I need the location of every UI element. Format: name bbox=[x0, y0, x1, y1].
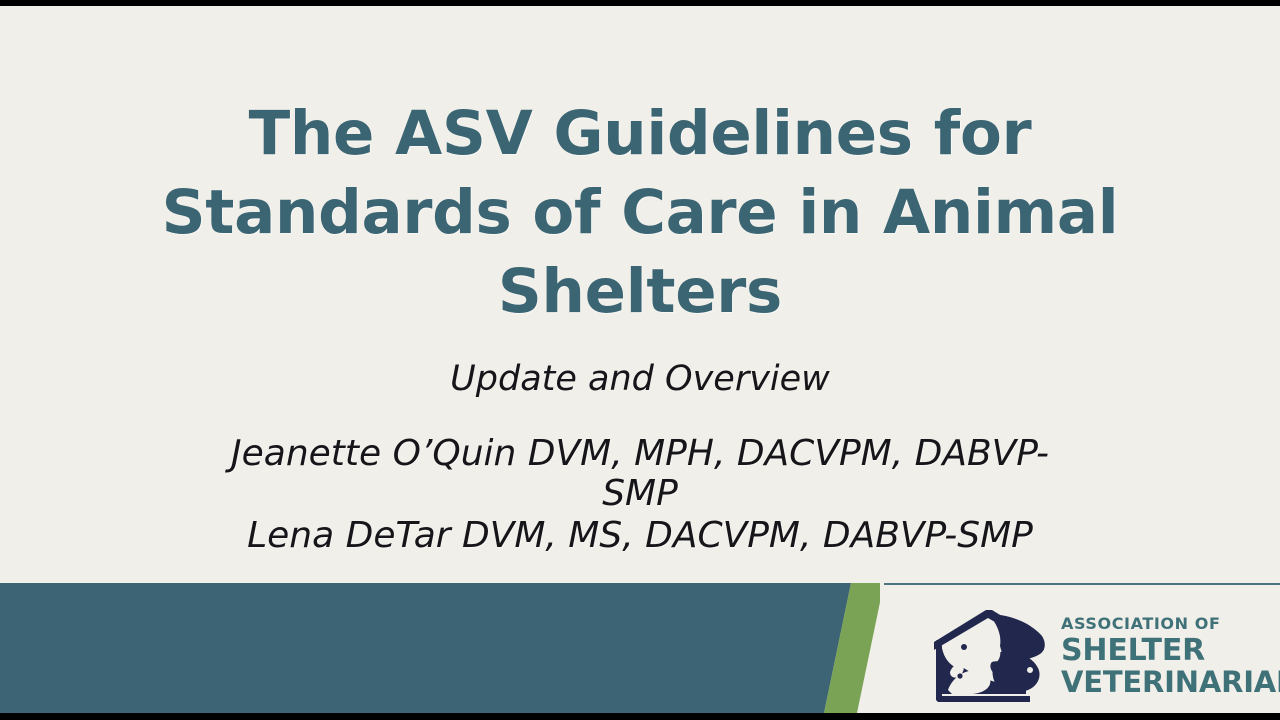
asv-logo: ASSOCIATION OF SHELTER VETERINARIANS bbox=[930, 604, 1270, 708]
author-1-credential-wrap: SMP bbox=[602, 473, 678, 514]
letterbox-bar-top bbox=[0, 0, 1280, 6]
letterbox-bar-bottom bbox=[0, 713, 1280, 720]
footer-teal-band bbox=[0, 583, 880, 713]
footer-divider-line bbox=[884, 583, 1280, 585]
asv-wordmark: ASSOCIATION OF SHELTER VETERINARIANS bbox=[1061, 616, 1280, 697]
title-line-3: Shelters bbox=[498, 256, 782, 327]
asv-line-shelter: SHELTER bbox=[1061, 636, 1280, 666]
house-with-dog-cat-rabbit-icon bbox=[930, 606, 1048, 706]
slide-canvas: The ASV Guidelines forStandards of Care … bbox=[0, 6, 1280, 713]
title-line-1: The ASV Guidelines for bbox=[249, 98, 1032, 169]
author-1-name-credentials: Jeanette O’Quin DVM, MPH, DACVPM, DABVP- bbox=[231, 433, 1049, 474]
title-line-2: Standards of Care in Animal bbox=[162, 177, 1119, 248]
author-block: Jeanette O’Quin DVM, MPH, DACVPM, DABVP-… bbox=[120, 434, 1160, 556]
presentation-slide: The ASV Guidelines forStandards of Care … bbox=[0, 0, 1280, 720]
author-line-1: Jeanette O’Quin DVM, MPH, DACVPM, DABVP-… bbox=[120, 434, 1160, 514]
author-line-2: Lena DeTar DVM, MS, DACVPM, DABVP-SMP bbox=[120, 516, 1160, 556]
slide-title-block: The ASV Guidelines forStandards of Care … bbox=[150, 94, 1130, 331]
slide-subtitle: Update and Overview bbox=[150, 356, 1130, 402]
page-title: The ASV Guidelines forStandards of Care … bbox=[150, 94, 1130, 331]
asv-line-association-of: ASSOCIATION OF bbox=[1061, 616, 1280, 632]
asv-line-veterinarians: VETERINARIANS bbox=[1061, 668, 1280, 697]
